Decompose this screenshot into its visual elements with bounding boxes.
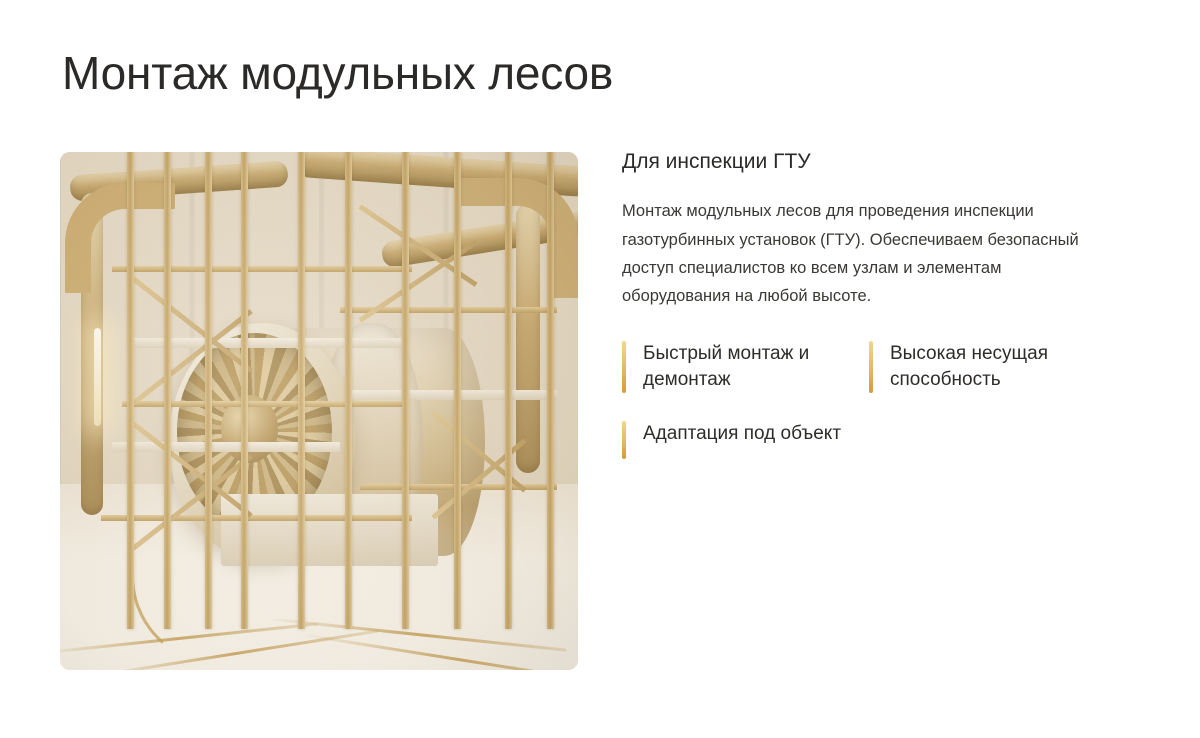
scaffold-post	[402, 152, 409, 629]
feature-list: Быстрый монтаж и демонтаж Высокая несуща…	[622, 341, 1116, 459]
accent-bar-icon	[622, 421, 626, 459]
page-title: Монтаж модульных лесов	[62, 45, 613, 103]
scaffold-post	[547, 152, 554, 629]
scaffold-post	[205, 152, 212, 629]
scaffold-post	[454, 152, 461, 629]
pipe-elbow	[65, 183, 175, 293]
feature-label: Быстрый монтаж и демонтаж	[643, 341, 861, 393]
scaffold-deck	[112, 442, 340, 452]
feature-item: Высокая несущая способность	[869, 341, 1116, 393]
accent-bar-icon	[869, 341, 873, 393]
pipe-elbow	[458, 178, 578, 298]
scene-illustration	[60, 152, 578, 670]
section-subtitle: Для инспекции ГТУ	[622, 148, 1116, 175]
scaffold-post	[345, 152, 352, 629]
content-column: Для инспекции ГТУ Монтаж модульных лесов…	[622, 148, 1116, 459]
hero-image	[60, 152, 578, 670]
scaffold-post	[298, 152, 305, 629]
feature-label: Высокая несущая способность	[890, 341, 1108, 393]
scaffold-post	[505, 152, 512, 629]
feature-label: Адаптация под объект	[643, 421, 841, 447]
scaffold-deck	[133, 338, 402, 348]
scaffold-rail	[101, 515, 412, 521]
feature-item: Быстрый монтаж и демонтаж	[622, 341, 869, 393]
wall-light-fixture	[94, 328, 101, 426]
slide-root: Монтаж модульных лесов	[0, 0, 1200, 738]
feature-item: Адаптация под объект	[622, 421, 1116, 459]
accent-bar-icon	[622, 341, 626, 393]
scaffold-post	[164, 152, 171, 629]
scaffold-post	[127, 152, 134, 629]
scaffold-post	[241, 152, 248, 629]
section-description: Монтаж модульных лесов для проведения ин…	[622, 197, 1108, 311]
scaffold-rail	[112, 266, 412, 272]
